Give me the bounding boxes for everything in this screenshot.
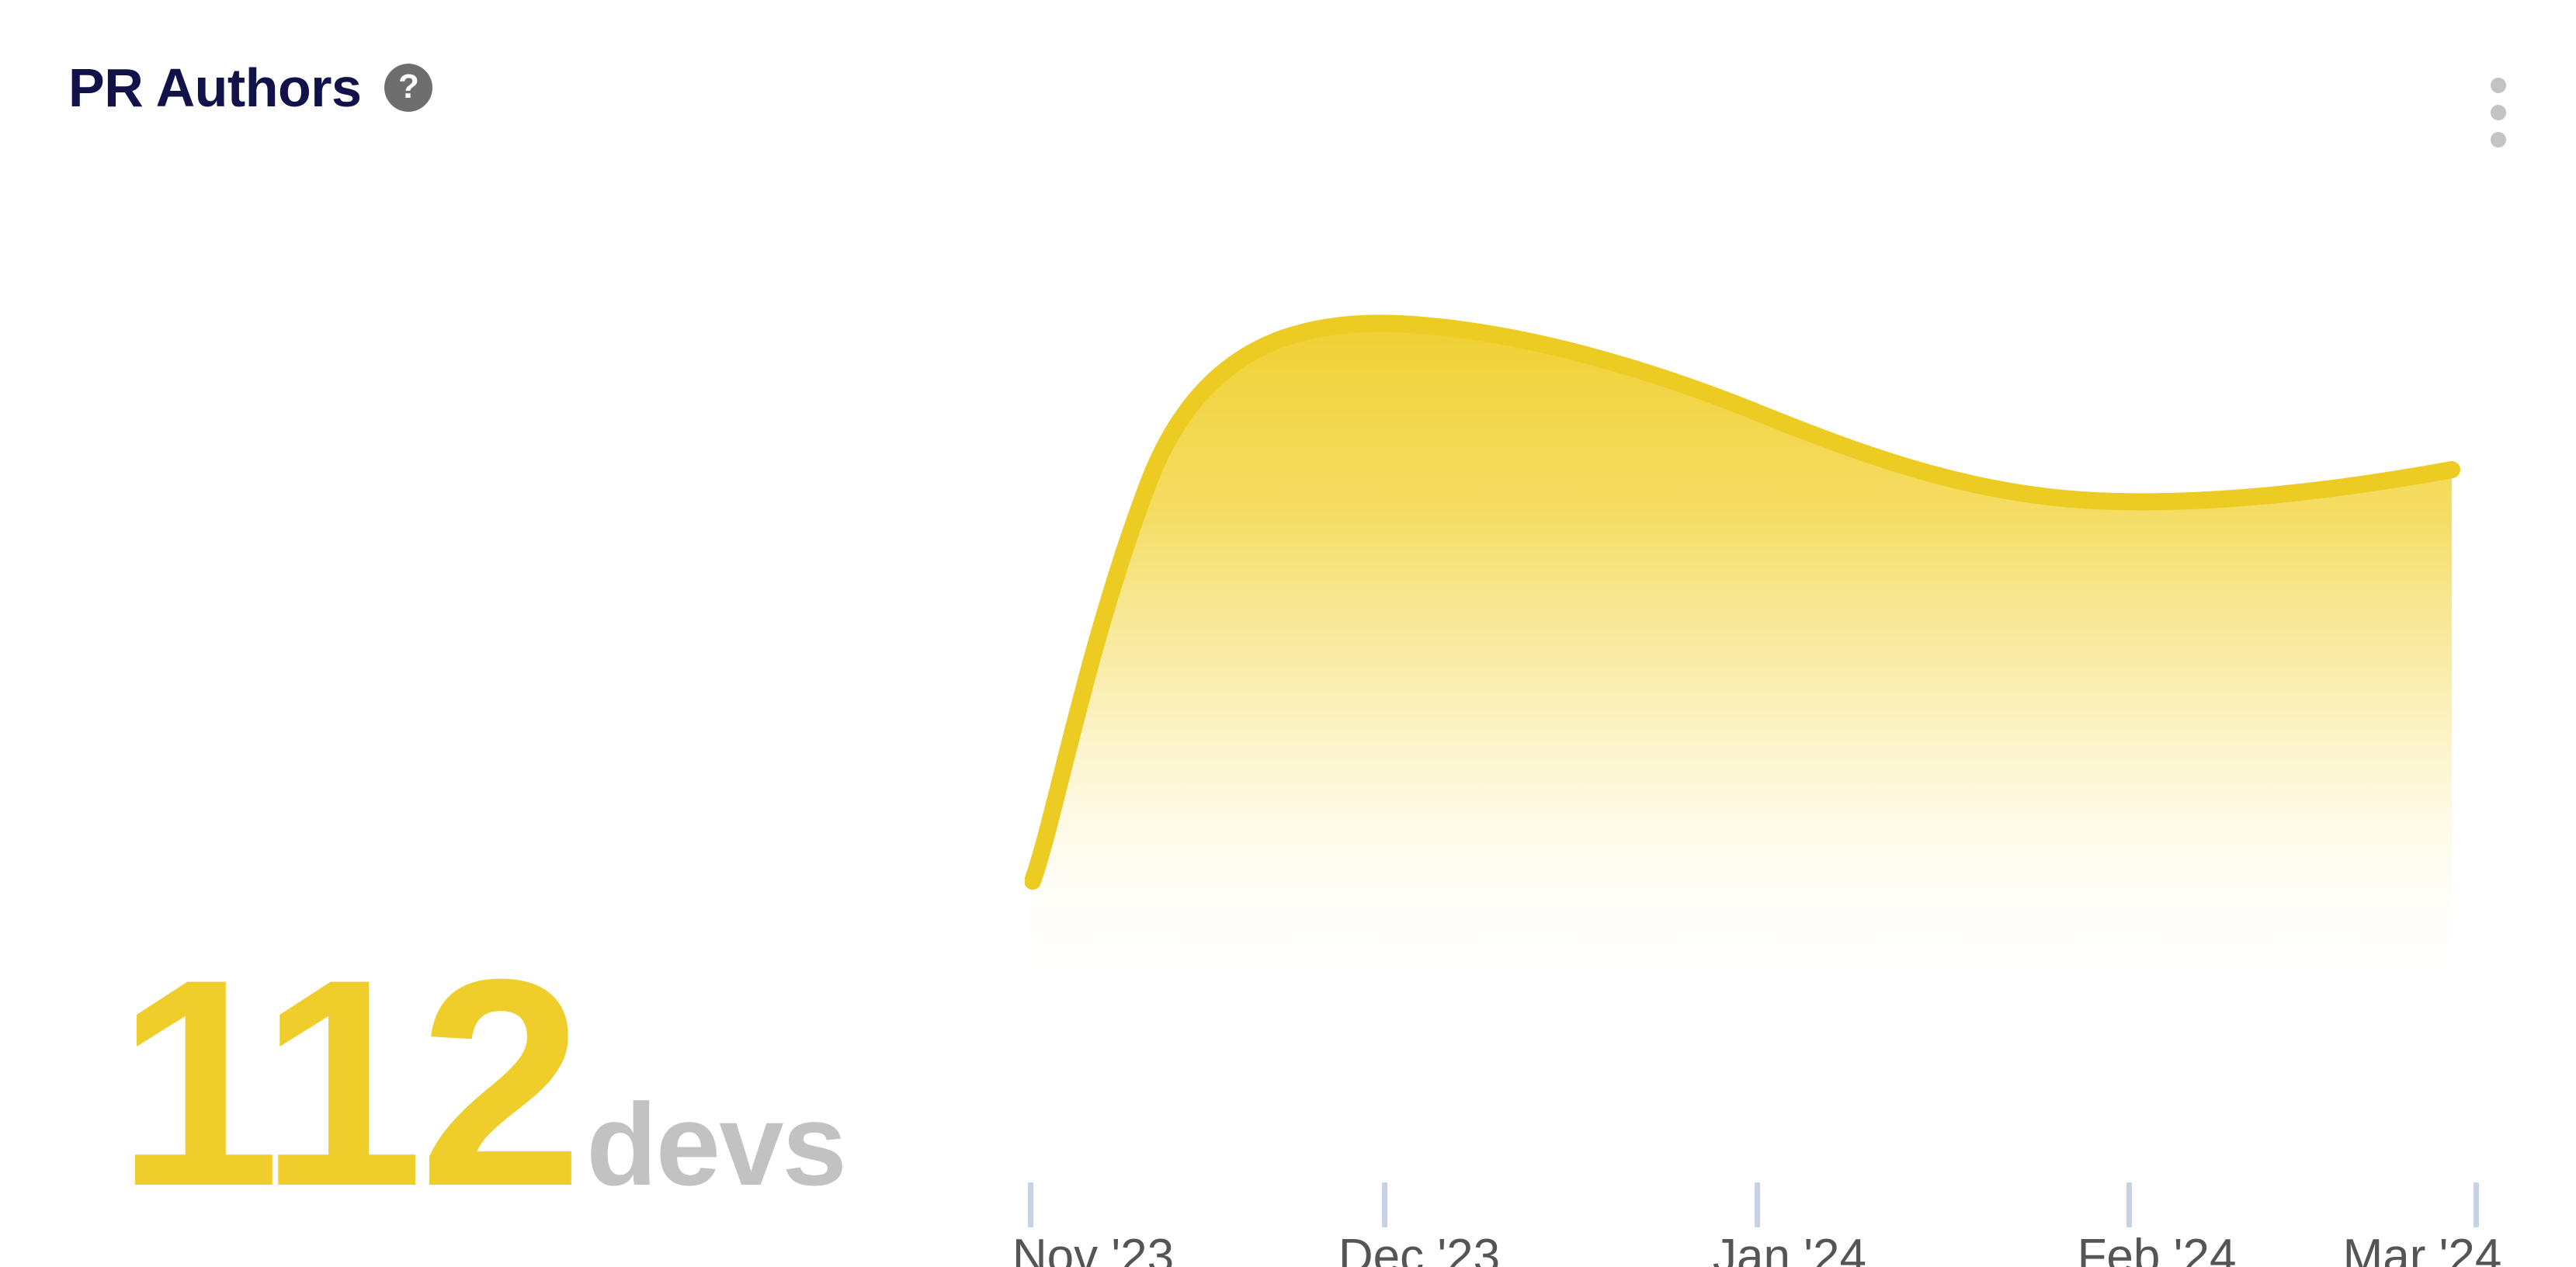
- area-fill: [1033, 323, 2452, 990]
- x-axis-label-2: Jan '24: [1713, 1233, 1866, 1267]
- x-axis-tick-0: [1028, 1182, 1033, 1227]
- kebab-dot-2: [2491, 105, 2506, 120]
- kebab-dot-1: [2491, 78, 2506, 93]
- kebab-menu-icon[interactable]: [2491, 78, 2506, 148]
- area-chart-svg: [1025, 148, 2484, 1157]
- card-body: 112 devs: [0, 148, 2576, 1267]
- help-glyph: ?: [398, 70, 419, 104]
- x-axis-tick-4: [2474, 1182, 2479, 1227]
- area-chart: Nov '23 Dec '23 Jan '24 Feb '24 Mar '24: [1025, 148, 2484, 1267]
- x-axis-label-3: Feb '24: [2078, 1233, 2237, 1267]
- x-axis-label-0: Nov '23: [1012, 1233, 1174, 1267]
- metric-value: 112: [116, 935, 578, 1231]
- x-axis-tick-3: [2126, 1182, 2132, 1227]
- metric-unit: devs: [586, 1086, 845, 1203]
- x-axis-tick-2: [1755, 1182, 1760, 1227]
- x-axis-label-4: Mar '24: [2343, 1233, 2502, 1267]
- x-axis-label-1: Dec '23: [1338, 1233, 1500, 1267]
- x-axis-labels: Nov '23 Dec '23 Jan '24 Feb '24 Mar '24: [1025, 1233, 2484, 1267]
- x-axis-ticks: [1025, 1182, 2484, 1229]
- pr-authors-card: PR Authors ? 112 devs: [0, 0, 2576, 1267]
- metric-block: 112 devs: [116, 935, 845, 1231]
- card-header: PR Authors ?: [0, 0, 2576, 148]
- x-axis-tick-1: [1382, 1182, 1387, 1227]
- help-circle-icon[interactable]: ?: [384, 64, 432, 112]
- title-group: PR Authors ?: [68, 61, 432, 115]
- page-title: PR Authors: [68, 61, 361, 115]
- kebab-dot-3: [2491, 132, 2506, 148]
